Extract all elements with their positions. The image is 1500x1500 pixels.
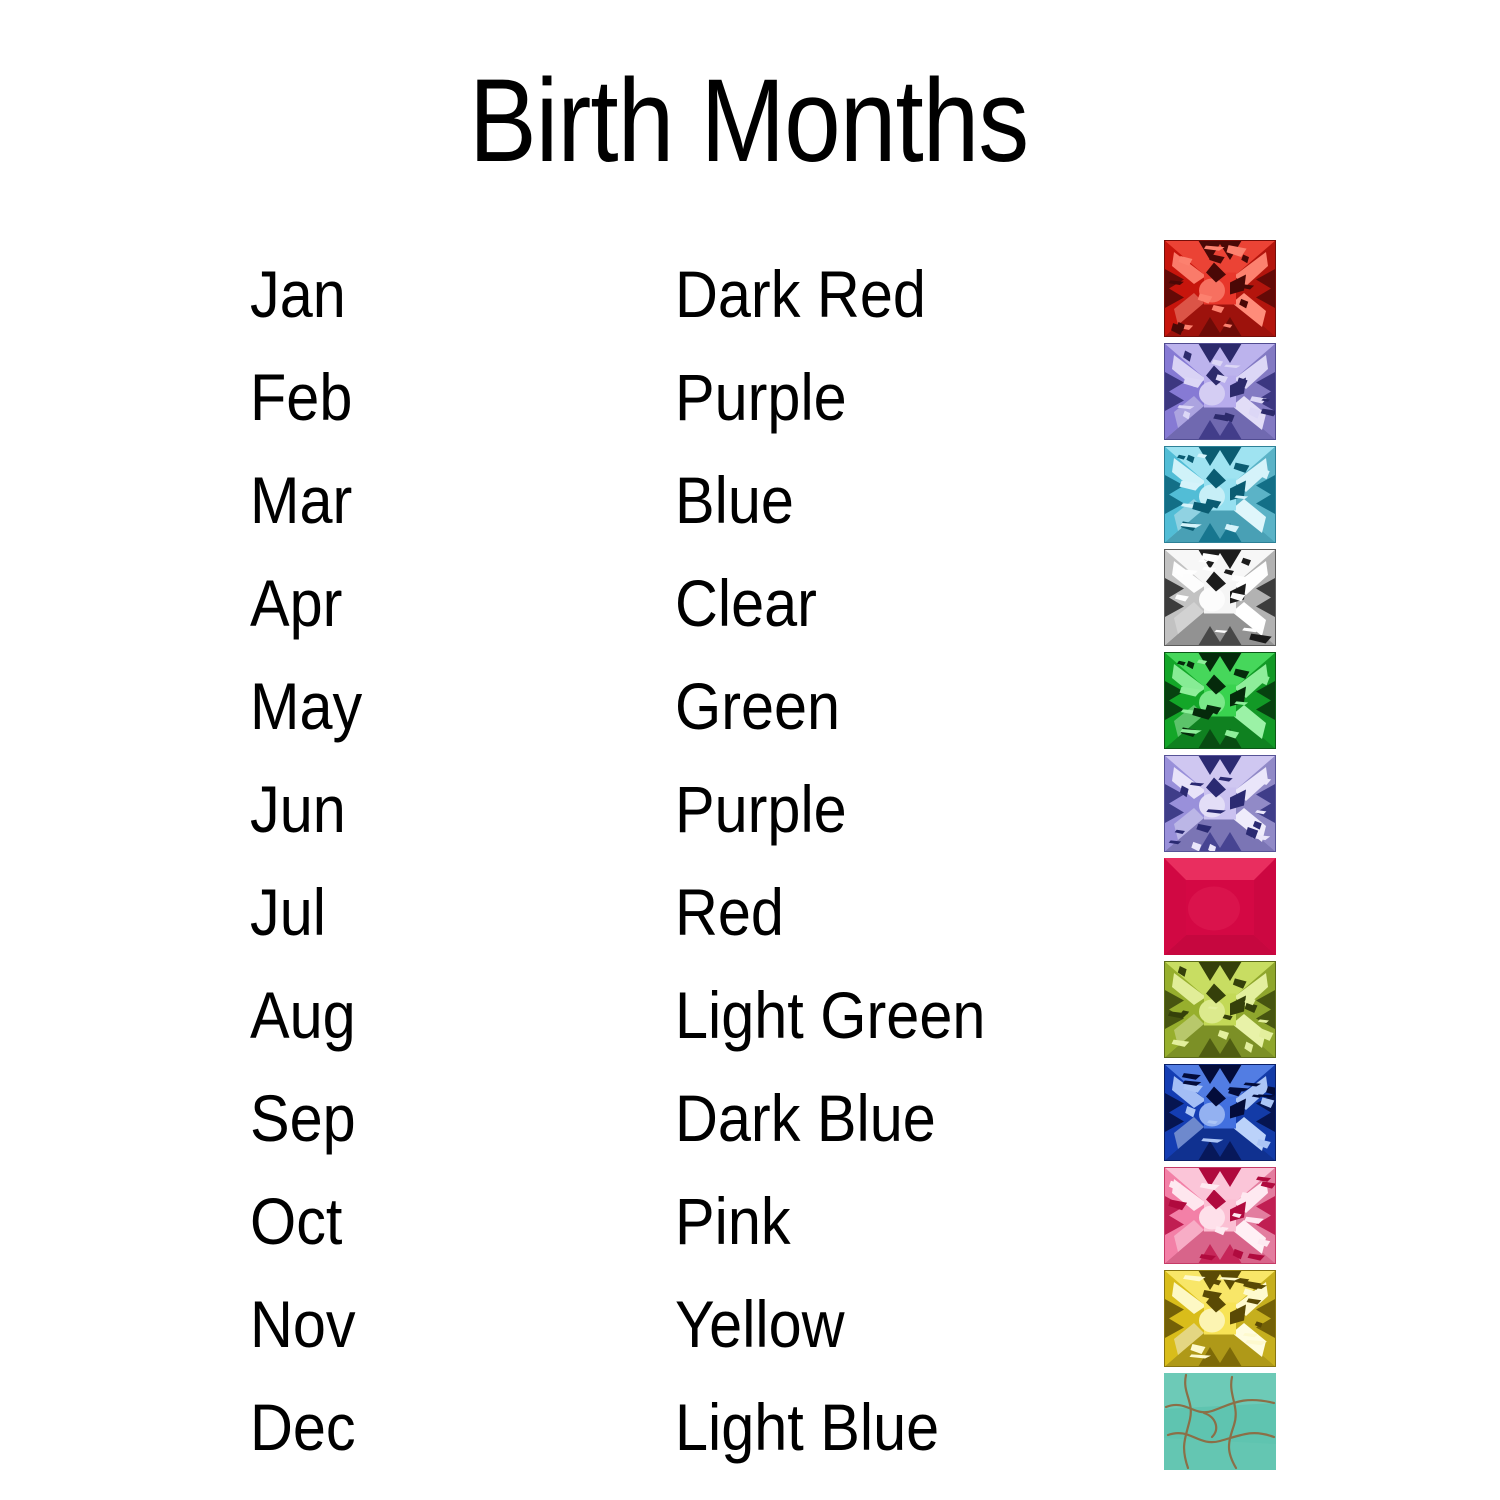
color-label: Yellow	[675, 1282, 845, 1385]
month-label: Jul	[250, 870, 326, 973]
table-row: DecLight Blue	[0, 1385, 1500, 1488]
emerald-gem-icon	[1164, 652, 1276, 749]
month-label: Jun	[250, 767, 346, 870]
alexandrite-gem-icon	[1164, 755, 1276, 852]
amethyst-gem-icon	[1164, 343, 1276, 440]
aquamarine-gem-icon	[1164, 446, 1276, 543]
page-title: Birth Months	[104, 62, 1394, 180]
color-label: Purple	[675, 767, 847, 870]
table-row: MayGreen	[0, 664, 1500, 767]
month-label: Nov	[250, 1282, 356, 1385]
month-label: Jan	[250, 252, 346, 355]
birth-months-page: Birth Months JanDark RedFebPurpleMarBlue…	[0, 0, 1500, 1500]
diamond-gem-icon	[1164, 549, 1276, 646]
table-row: JulRed	[0, 870, 1500, 973]
tourmaline-gem-icon	[1164, 1167, 1276, 1264]
month-label: Oct	[250, 1179, 342, 1282]
table-row: FebPurple	[0, 355, 1500, 458]
month-label: Mar	[250, 458, 352, 561]
garnet-gem-icon	[1164, 240, 1276, 337]
color-label: Green	[675, 664, 840, 767]
peridot-gem-icon	[1164, 961, 1276, 1058]
table-row: AugLight Green	[0, 973, 1500, 1076]
table-row: JunPurple	[0, 767, 1500, 870]
color-label: Dark Red	[675, 252, 926, 355]
color-label: Light Blue	[675, 1385, 939, 1488]
turquoise-gem-icon	[1164, 1373, 1276, 1470]
color-label: Blue	[675, 458, 794, 561]
month-label: Dec	[250, 1385, 356, 1488]
table-row: NovYellow	[0, 1282, 1500, 1385]
sapphire-gem-icon	[1164, 1064, 1276, 1161]
month-label: May	[250, 664, 362, 767]
birth-months-table: JanDark RedFebPurpleMarBlueAprClearMayGr…	[0, 252, 1500, 1488]
table-row: JanDark Red	[0, 252, 1500, 355]
table-row: SepDark Blue	[0, 1076, 1500, 1179]
color-label: Pink	[675, 1179, 791, 1282]
color-label: Purple	[675, 355, 847, 458]
color-label: Red	[675, 870, 784, 973]
color-label: Light Green	[675, 973, 985, 1076]
color-label: Dark Blue	[675, 1076, 936, 1179]
citrine-gem-icon	[1164, 1270, 1276, 1367]
table-row: AprClear	[0, 561, 1500, 664]
ruby-gem-icon	[1164, 858, 1276, 955]
month-label: Apr	[250, 561, 342, 664]
color-label: Clear	[675, 561, 817, 664]
month-label: Feb	[250, 355, 352, 458]
table-row: MarBlue	[0, 458, 1500, 561]
month-label: Aug	[250, 973, 356, 1076]
month-label: Sep	[250, 1076, 356, 1179]
table-row: OctPink	[0, 1179, 1500, 1282]
